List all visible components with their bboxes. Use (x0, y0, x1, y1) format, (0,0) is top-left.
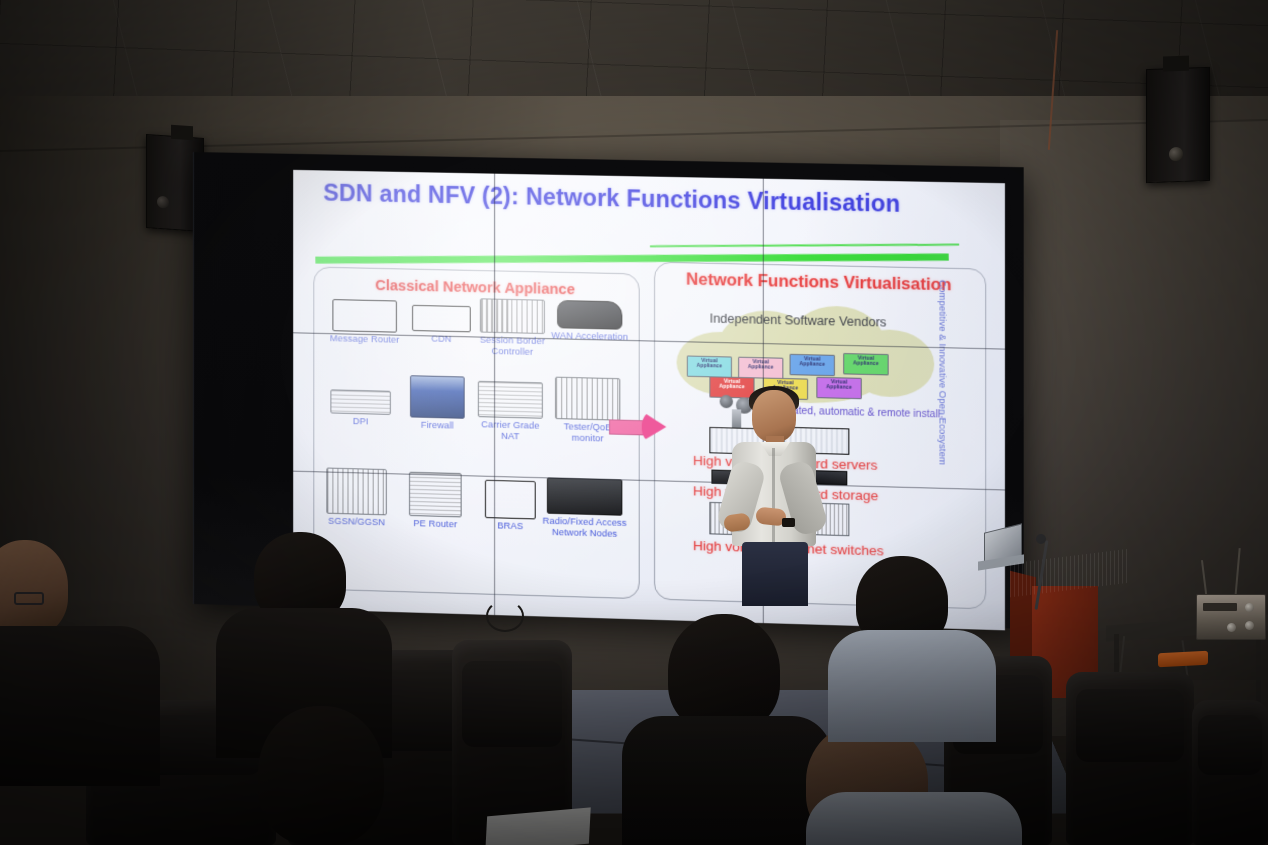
device-label: PE Router (396, 518, 475, 531)
speaker-bracket (171, 125, 193, 141)
virtual-appliance-1: Virtual Appliance (687, 355, 732, 377)
router-icon (332, 299, 397, 333)
virtual-appliance-4: Virtual Appliance (843, 353, 888, 375)
speaker-cone-icon (157, 196, 169, 209)
device-label: WAN Acceleration (550, 330, 630, 343)
bras-icon (485, 480, 536, 520)
server-icon (330, 389, 390, 415)
chassis-icon (480, 298, 545, 334)
wall-speaker-right (1146, 67, 1210, 183)
orange-device (1158, 651, 1208, 668)
audio-receiver[interactable] (1196, 594, 1266, 640)
conference-room-photo: SDN and NFV (2): Network Functions Virtu… (0, 0, 1268, 845)
device-message-router: Message Router (325, 299, 404, 346)
chair-cushion (462, 661, 563, 747)
device-label: SGSN/GGSN (317, 515, 396, 528)
server-icon (412, 305, 471, 332)
appliance-icon (557, 300, 622, 330)
chassis-icon (478, 381, 543, 419)
receiver-knob-icon[interactable] (1227, 623, 1236, 632)
device-cdn: CDN (402, 305, 481, 346)
presenter-wristwatch (782, 518, 795, 527)
hanging-cable (486, 600, 524, 632)
slide-title: SDN and NFV (2): Network Functions Virtu… (323, 178, 936, 218)
speaker-cone-icon (1169, 147, 1183, 161)
chair-cushion (1198, 715, 1262, 776)
access-node-icon (547, 477, 622, 515)
audience-head-4 (668, 614, 780, 732)
transition-arrow-icon (609, 410, 668, 442)
chair-6 (1192, 700, 1268, 845)
audience-shoulders-1 (0, 626, 160, 786)
firewall-icon (410, 375, 465, 419)
virtual-appliance-3: Virtual Appliance (790, 354, 835, 376)
receiver-display (1203, 603, 1237, 611)
arrow-head (642, 411, 667, 442)
device-sgsn-ggsn: SGSN/GGSN (317, 467, 396, 528)
chair-cushion (1076, 689, 1184, 762)
device-label: CDN (402, 333, 481, 345)
device-radio-fixed-access: Radio/Fixed Access Network Nodes (536, 477, 634, 539)
virtual-appliance-2: Virtual Appliance (738, 357, 783, 379)
chassis-icon (326, 468, 386, 516)
device-session-border-controller: Session Border Controller (473, 298, 552, 357)
presenter-trousers (742, 542, 808, 606)
device-wan-acceleration: WAN Acceleration (550, 300, 630, 343)
ecosystem-label: Competitive & Innovative Open Ecosystem (934, 280, 947, 466)
device-carrier-grade-nat: Carrier Grade NAT (471, 381, 550, 443)
audience-head-3 (258, 706, 384, 845)
router-icon (409, 472, 462, 518)
slide-accent-bar (315, 253, 948, 263)
presenter-head (752, 390, 796, 442)
presenter (722, 390, 826, 604)
audience-shoulders-6 (828, 630, 996, 742)
device-label: Firewall (398, 419, 477, 432)
slide-accent-line (650, 244, 959, 248)
chair-5 (1066, 672, 1194, 845)
audience-shoulders-4 (622, 716, 832, 845)
receiver-knob-icon[interactable] (1245, 603, 1254, 612)
device-firewall: Firewall (398, 375, 477, 432)
receiver-knob-icon[interactable] (1245, 621, 1254, 630)
device-dpi: DPI (321, 389, 400, 428)
device-pe-router: PE Router (396, 471, 475, 530)
presenter-shirt-placket (772, 448, 775, 544)
device-label: Session Border Controller (473, 334, 552, 357)
device-label: Message Router (325, 333, 404, 345)
speaker-bracket (1163, 56, 1189, 72)
eyeglasses-icon (14, 592, 44, 605)
device-label: DPI (321, 415, 400, 428)
device-label: Radio/Fixed Access Network Nodes (536, 515, 634, 539)
device-label: Carrier Grade NAT (471, 419, 550, 442)
audience-shoulders-5 (806, 792, 1022, 845)
